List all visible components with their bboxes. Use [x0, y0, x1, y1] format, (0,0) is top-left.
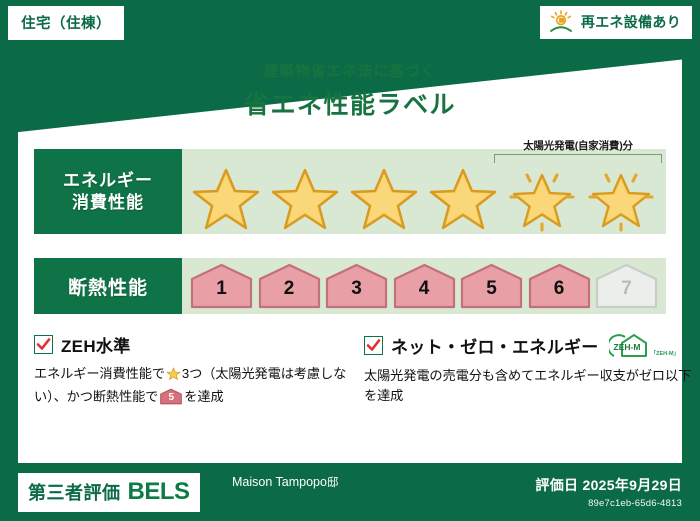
owner-name: Maison Tampopo邸 — [232, 475, 338, 491]
insulation-level-badge: 6 — [528, 263, 591, 309]
insulation-level-number: 7 — [595, 278, 658, 300]
checkbox-checked-icon — [364, 336, 383, 355]
bels-en-label: BELS — [128, 478, 190, 506]
insulation-level-badge-inline: 5 — [160, 388, 182, 405]
bels-certification-mark: 第三者評価 BELS — [18, 473, 200, 512]
insulation-level-number: 5 — [460, 278, 523, 300]
star-icon — [347, 164, 421, 232]
star-icon — [189, 164, 263, 232]
evaluation-info: 評価日 2025年9月29日 89e7c1eb-65d6-4813 — [535, 475, 682, 509]
insulation-level-badge: 3 — [325, 263, 388, 309]
title-main: 省エネ性能ラベル — [18, 85, 682, 121]
insulation-level-number: 1 — [190, 278, 253, 300]
star-icon — [268, 164, 342, 232]
criteria-zeh-header: ZEH水準 — [34, 332, 364, 357]
solar-annotation-label: 太陽光発電(自家消費)分 — [494, 138, 662, 153]
criteria-zeh-text-prefix: エネルギー消費性能で — [34, 366, 165, 381]
energy-label-line1: エネルギー — [63, 170, 153, 192]
star-rating — [186, 163, 660, 232]
title-subtitle: 建築物省エネ法に基づく — [18, 60, 682, 81]
renewable-energy-badge: 再エネ設備あり — [540, 6, 692, 39]
evaluation-date: 評価日 2025年9月29日 — [535, 475, 682, 495]
criteria-net-zero-header: ネット・ゼロ・エネルギー ZEH-M 「ZEH-M」 — [364, 332, 694, 359]
energy-performance-row: エネルギー 消費性能 太陽光発電(自家消費)分 — [34, 149, 666, 234]
insulation-level-badge: 4 — [393, 263, 456, 309]
energy-performance-label: エネルギー 消費性能 — [34, 149, 182, 234]
evaluation-uid: 89e7c1eb-65d6-4813 — [535, 498, 682, 509]
insulation-level-number-inline: 5 — [160, 388, 182, 405]
label-content: 建築物省エネ法に基づく 省エネ性能ラベル エネルギー 消費性能 太陽光発電(自家… — [18, 36, 682, 463]
criteria-zeh-title: ZEH水準 — [61, 332, 131, 357]
insulation-level-number: 2 — [258, 278, 321, 300]
document-type-label: 住宅（住棟） — [21, 16, 111, 32]
insulation-level-badge: 1 — [190, 263, 253, 309]
document-type-tab[interactable]: 住宅（住棟） — [8, 6, 124, 40]
insulation-level-badge-inactive: 7 — [595, 263, 658, 309]
renewable-energy-label: 再エネ設備あり — [581, 12, 681, 32]
star-sparkle-icon — [584, 164, 658, 232]
checkbox-checked-icon — [34, 335, 53, 354]
svg-text:ZEH-M: ZEH-M — [613, 342, 640, 352]
insulation-level-number: 6 — [528, 278, 591, 300]
criteria-zeh: ZEH水準 エネルギー消費性能で3つ（太陽光発電は考慮しない）、かつ断熱性能で5… — [34, 332, 364, 408]
owner-name-suffix: 邸 — [327, 477, 339, 489]
criteria-net-zero-description: 太陽光発電の売電分も含めてエネルギー収支がゼロ以下を達成 — [364, 366, 694, 407]
criteria-net-zero: ネット・ゼロ・エネルギー ZEH-M 「ZEH-M」 太陽光発電の売電分も含めて… — [364, 332, 694, 407]
zeh-m-logo: ZEH-M 「ZEH-M」 — [609, 332, 679, 359]
insulation-performance-row: 断熱性能 1 2 3 4 — [34, 258, 666, 314]
insulation-performance-label: 断熱性能 — [34, 258, 182, 314]
criteria-net-zero-title: ネット・ゼロ・エネルギー — [391, 333, 599, 358]
owner-name-text: Maison Tampopo — [232, 475, 327, 489]
criteria-zeh-description: エネルギー消費性能で3つ（太陽光発電は考慮しない）、かつ断熱性能で5を達成 — [34, 364, 364, 408]
insulation-level-badge: 2 — [258, 263, 321, 309]
label-footer: 第三者評価 BELS Maison Tampopo邸 評価日 2025年9月29… — [0, 463, 700, 521]
page-title: 建築物省エネ法に基づく 省エネ性能ラベル — [18, 60, 682, 121]
insulation-level-number: 3 — [325, 278, 388, 300]
insulation-level-list: 1 2 3 4 5 — [190, 262, 658, 310]
energy-label-line2: 消費性能 — [72, 192, 144, 214]
insulation-label-text: 断熱性能 — [68, 273, 148, 300]
solar-sun-icon — [548, 10, 574, 34]
solar-bracket — [494, 154, 662, 163]
zeh-m-logo-caption: 「ZEH-M」 — [651, 349, 679, 359]
solar-annotation: 太陽光発電(自家消費)分 — [494, 138, 662, 163]
insulation-levels-area: 1 2 3 4 5 — [182, 258, 666, 314]
star-icon — [426, 164, 500, 232]
bels-jp-label: 第三者評価 — [28, 479, 121, 505]
star-icon — [166, 366, 181, 387]
criteria-zeh-text-suffix: を達成 — [184, 389, 223, 404]
insulation-level-number: 4 — [393, 278, 456, 300]
insulation-level-badge: 5 — [460, 263, 523, 309]
star-sparkle-icon — [505, 164, 579, 232]
energy-stars-area: 太陽光発電(自家消費)分 — [182, 149, 666, 234]
